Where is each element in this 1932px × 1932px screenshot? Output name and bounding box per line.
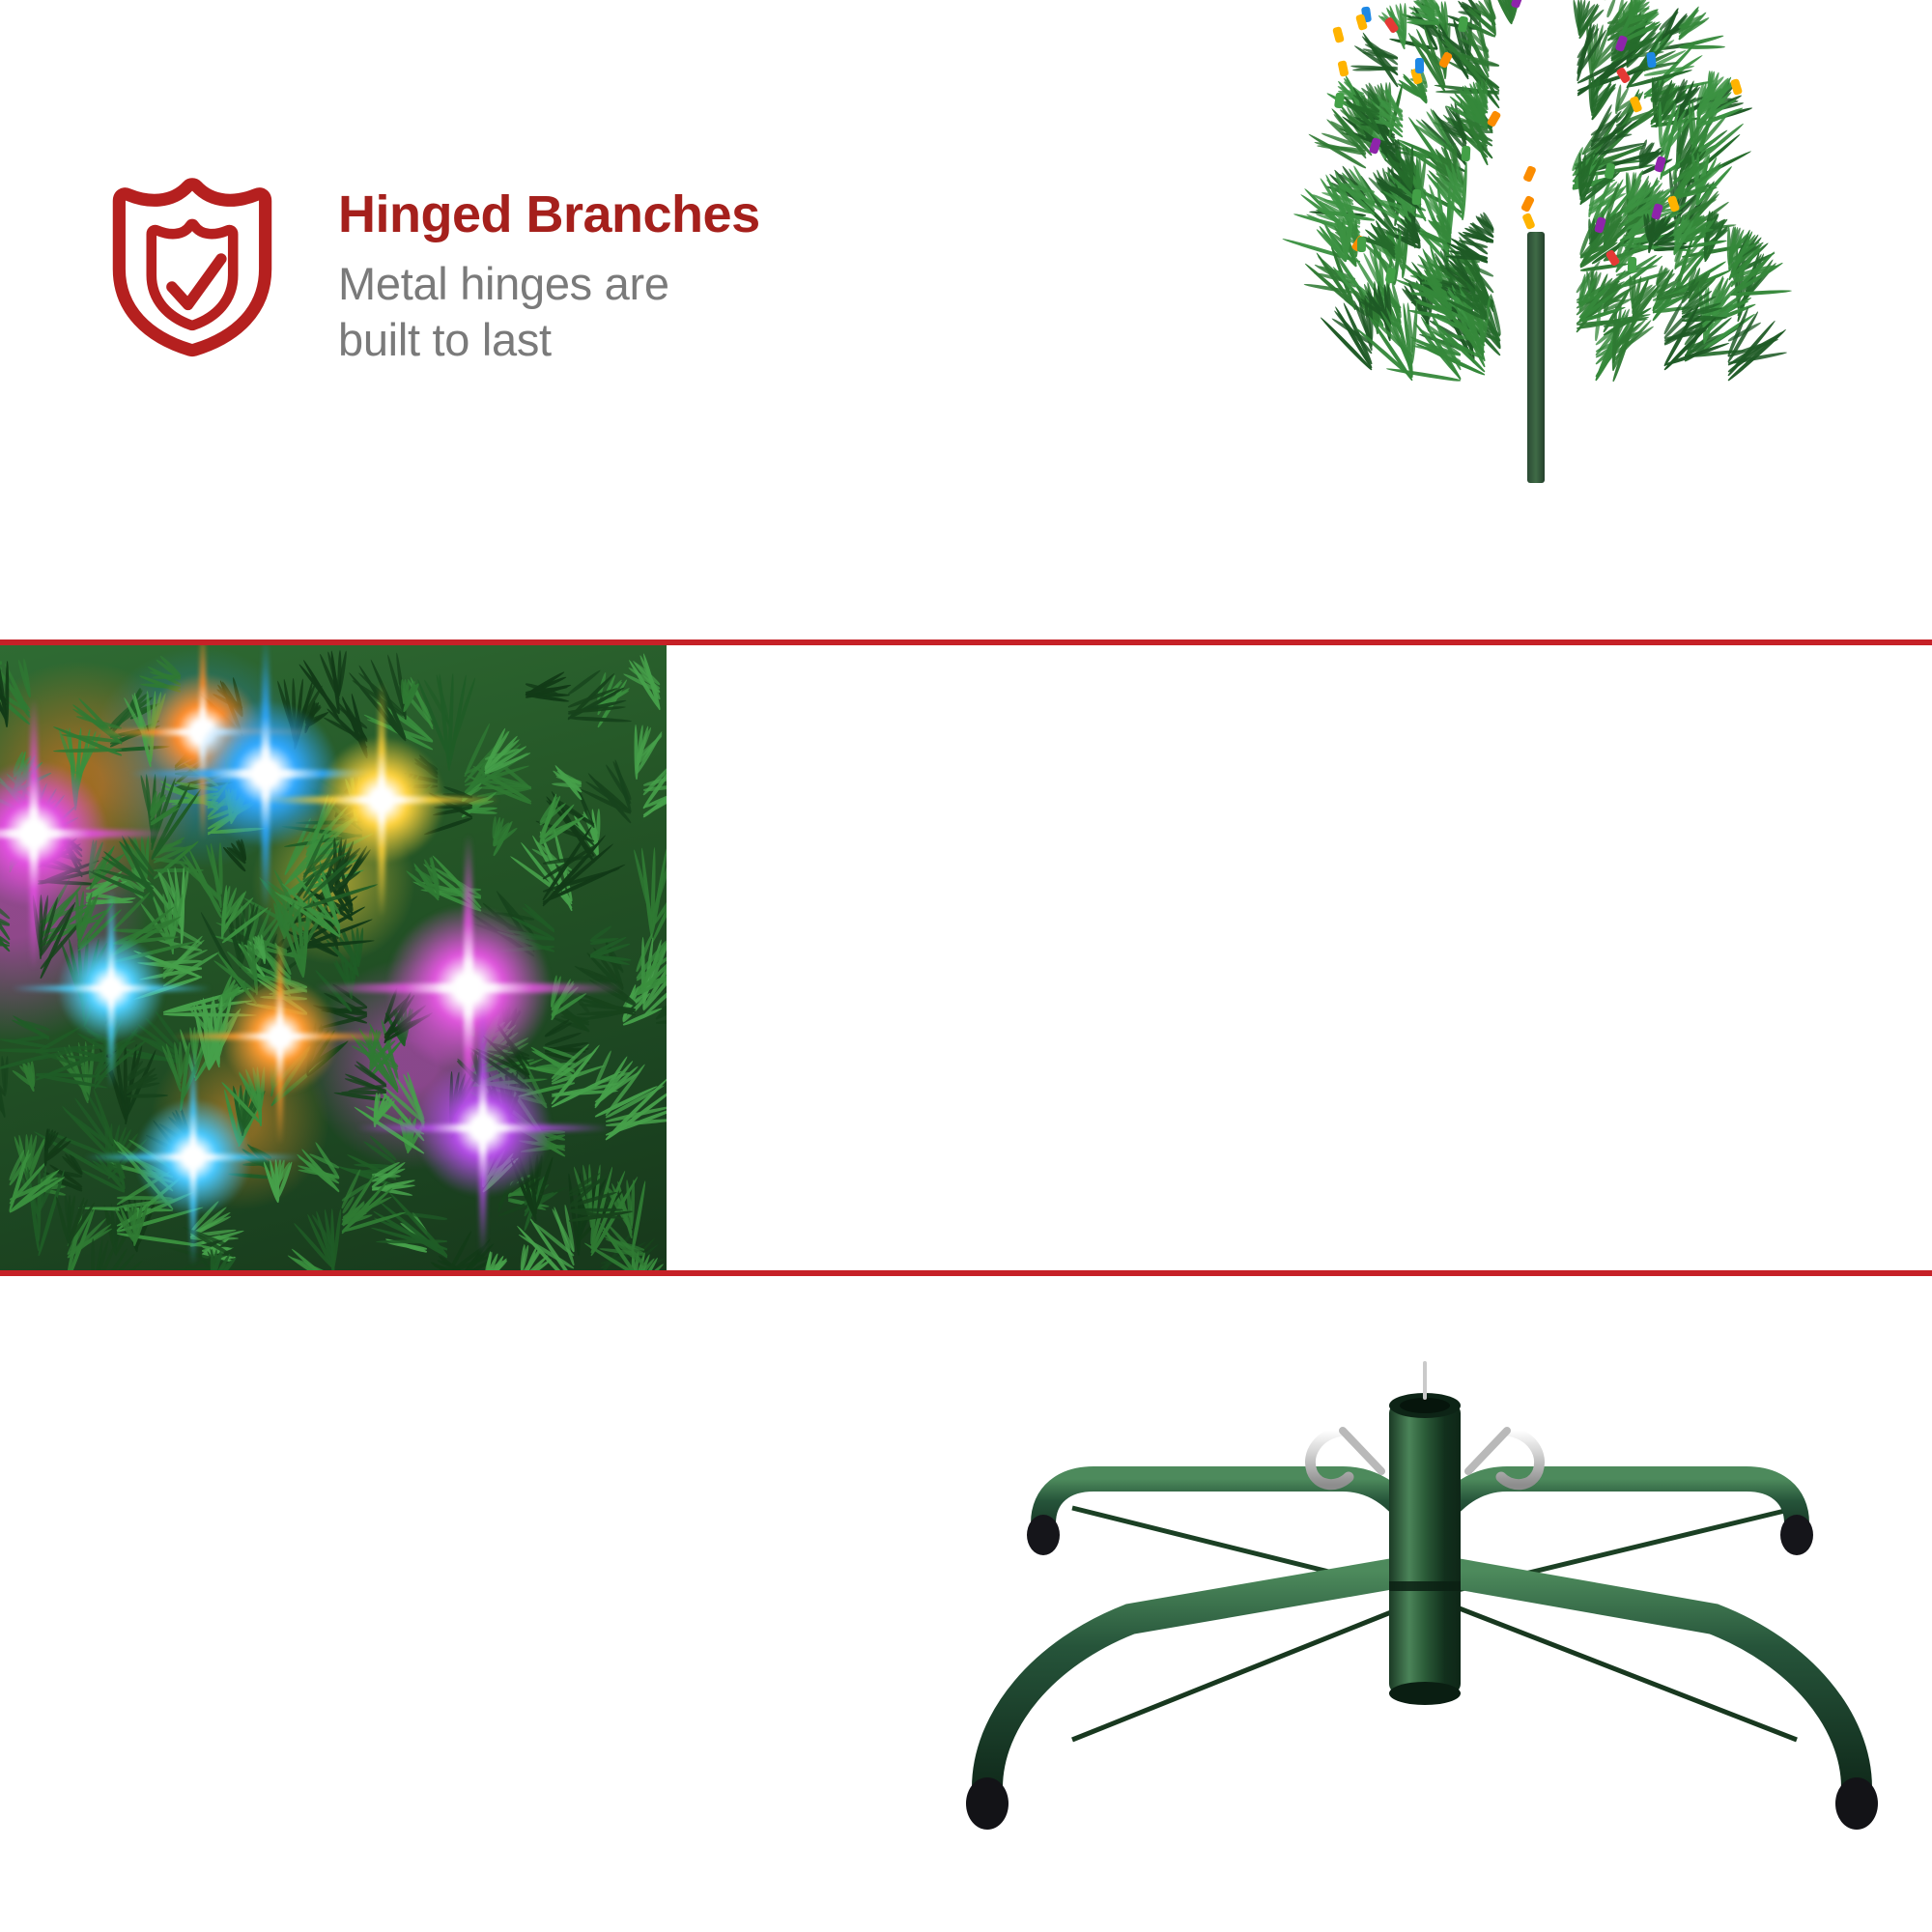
green-artificial-tree-branches-photo <box>1130 0 1932 483</box>
feature-block-hinged-branches: Hinged Branches Metal hinges are built t… <box>106 174 760 367</box>
product-feature-infographic: Artificial Christmas Tree Feature Highli… <box>0 0 1932 1932</box>
feature-description-hinged-branches: Metal hinges are built to last <box>338 256 760 367</box>
feature-panel-sturdy-base: Sturdy Base A reliable metal stand for y… <box>0 1276 1932 1932</box>
shield-check-icon <box>106 174 278 357</box>
feature-text-hinged-branches: Hinged Branches Metal hinges are built t… <box>338 174 760 367</box>
feature-description-line: built to last <box>338 312 760 367</box>
feature-title-hinged-branches: Hinged Branches <box>338 187 760 242</box>
feature-panel-pvc-tips: PVC Tips Flame-retardant and easy to flu… <box>0 645 1932 1270</box>
feature-description-line: Metal hinges are <box>338 256 760 311</box>
lit-christmas-tree-photo <box>0 645 667 1270</box>
metal-tree-stand-photo <box>927 1334 1913 1875</box>
feature-panel-hinged-branches: Hinged Branches Metal hinges are built t… <box>0 0 1932 639</box>
